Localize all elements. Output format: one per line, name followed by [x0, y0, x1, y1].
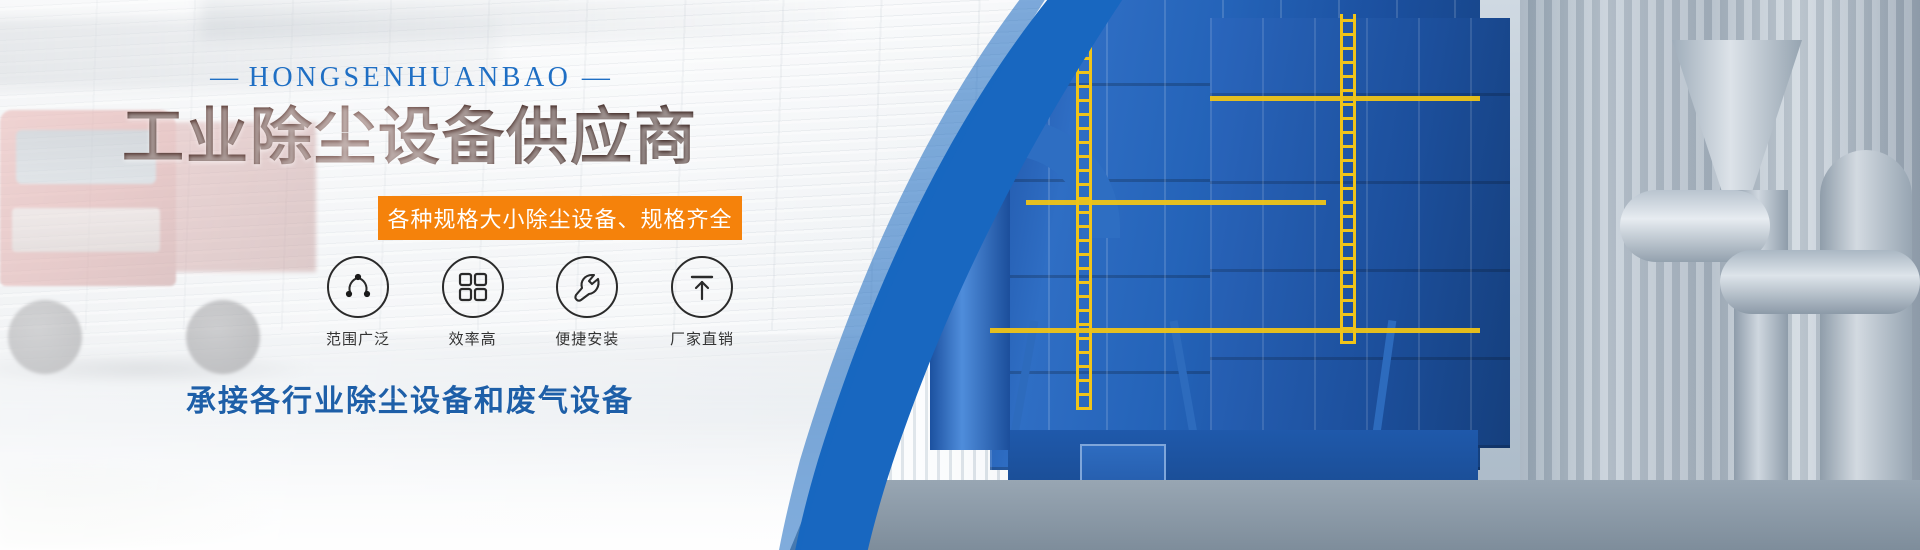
- subtitle-orange-bar: 各种规格大小除尘设备、规格齐全: [378, 196, 742, 240]
- feature-label: 厂家直销: [654, 328, 750, 349]
- eyebrow-dash-left: —: [210, 62, 238, 93]
- scope-network-icon: [327, 256, 389, 318]
- banner-content: — HONGSENHUANBAO — 工业除尘设备供应商 各种规格大小除尘设备、…: [0, 0, 820, 550]
- wrench-icon: [556, 256, 618, 318]
- feature-label: 范围广泛: [310, 328, 406, 349]
- subtitle-text: 各种规格大小除尘设备、规格齐全: [387, 202, 732, 234]
- brand-eyebrow: — HONGSENHUANBAO —: [0, 62, 820, 94]
- feature-item-factory-direct[interactable]: 厂家直销: [654, 256, 750, 349]
- grid-squares-icon: [442, 256, 504, 318]
- feature-item-scope[interactable]: 范围广泛: [310, 256, 406, 349]
- photo-steel-pipe-foreground: [1720, 250, 1920, 314]
- banner-tagline: 承接各行业除尘设备和废气设备: [0, 376, 820, 420]
- feature-list: 范围广泛 效率高: [310, 256, 750, 349]
- hero-banner: — HONGSENHUANBAO — 工业除尘设备供应商 各种规格大小除尘设备、…: [0, 0, 1920, 550]
- eyebrow-text: HONGSENHUANBAO: [249, 62, 572, 93]
- feature-label: 便捷安装: [539, 328, 635, 349]
- blue-arc-swoosh: [760, 0, 1380, 550]
- upward-arrow-icon: [671, 256, 733, 318]
- feature-item-installation[interactable]: 便捷安装: [539, 256, 635, 349]
- eyebrow-dash-right: —: [582, 62, 610, 93]
- feature-item-efficiency[interactable]: 效率高: [425, 256, 521, 349]
- page-title: 工业除尘设备供应商: [0, 104, 820, 169]
- feature-label: 效率高: [425, 328, 521, 349]
